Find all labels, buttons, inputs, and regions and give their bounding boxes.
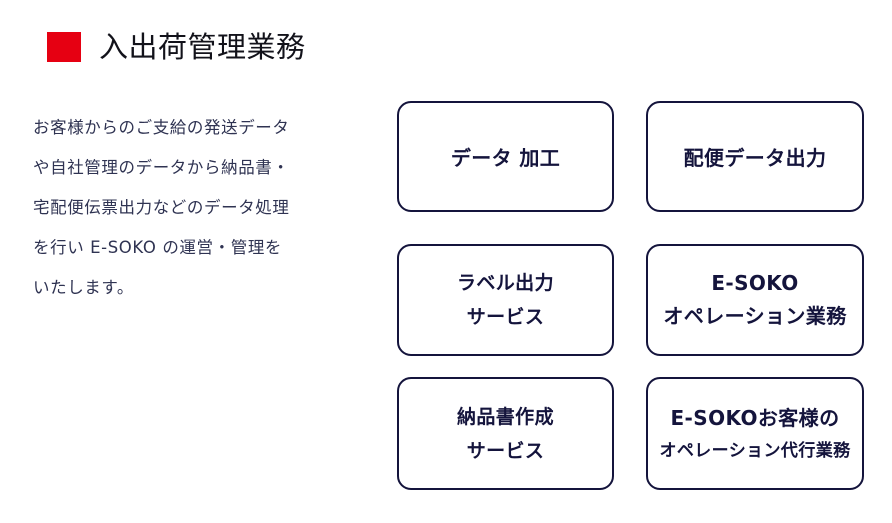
service-box-line1: E-SOKO: [711, 267, 798, 300]
service-box-line2: オペレーション業務: [663, 300, 846, 333]
service-box-line2: サービス: [467, 300, 545, 334]
service-box-delivery-data-output[interactable]: 配便データ出力: [646, 101, 864, 212]
service-box-line2: サービス: [467, 434, 545, 468]
page-root: 入出荷管理業務 お客様からのご支給の発送データ や自社管理のデータから納品書・ …: [0, 0, 892, 523]
service-box-line2: オペレーション代行業務: [659, 435, 850, 467]
service-box-line1: ラベル出力: [457, 266, 554, 300]
service-box-data-processing[interactable]: データ 加工: [397, 101, 614, 212]
service-box-esoko-agency-operation[interactable]: E-SOKOお客様の オペレーション代行業務: [646, 377, 864, 490]
service-box-line1: 配便データ出力: [684, 142, 827, 171]
service-box-line1: E-SOKOお客様の: [671, 401, 840, 435]
service-box-esoko-operation[interactable]: E-SOKO オペレーション業務: [646, 244, 864, 356]
service-box-grid: データ 加工 配便データ出力 ラベル出力 サービス E-SOKO オペレーション…: [0, 0, 892, 523]
service-box-label-output-service[interactable]: ラベル出力 サービス: [397, 244, 614, 356]
service-box-delivery-note-service[interactable]: 納品書作成 サービス: [397, 377, 614, 490]
service-box-line1: 納品書作成: [457, 400, 554, 434]
service-box-line1: データ 加工: [451, 142, 560, 171]
